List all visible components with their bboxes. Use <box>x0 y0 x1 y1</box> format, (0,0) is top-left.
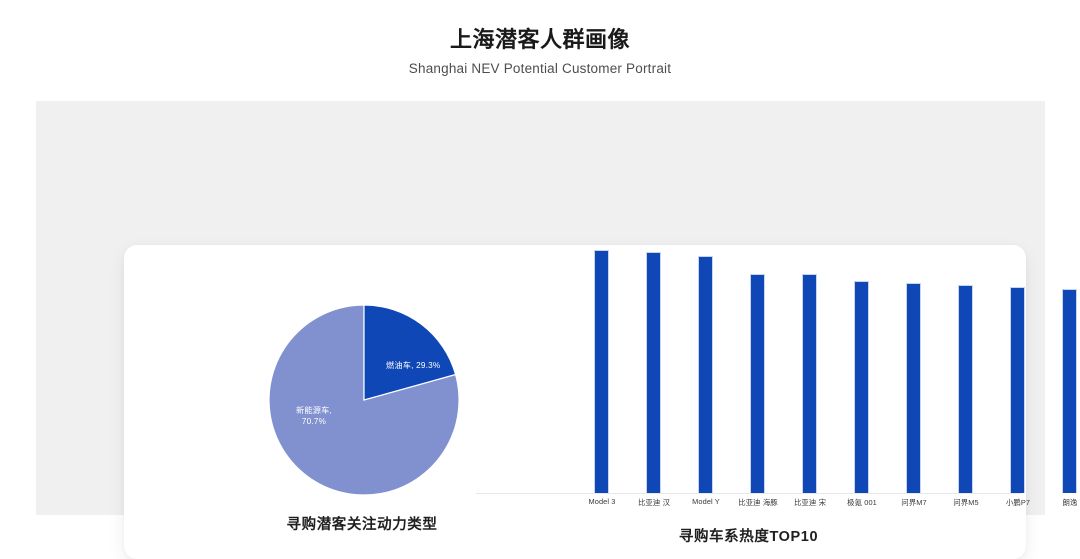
page-subtitle: Shanghai NEV Potential Customer Portrait <box>0 54 1080 76</box>
bar-column <box>940 247 992 493</box>
bar-column <box>992 247 1044 493</box>
bar-column <box>576 247 628 493</box>
bar-tick-label: Model 3 <box>576 497 628 506</box>
bar-tick-label: 问界M7 <box>888 497 940 508</box>
bar-column <box>680 247 732 493</box>
bar-column <box>836 247 888 493</box>
bar-chart-block: Model 3比亚迪 汉Model Y比亚迪 海豚比亚迪 宋极氪 001问界M7… <box>476 247 1021 557</box>
bar[interactable] <box>594 250 609 493</box>
page-header: 上海潜客人群画像 Shanghai NEV Potential Customer… <box>0 0 1080 76</box>
bar[interactable] <box>646 252 661 493</box>
bar-column <box>1044 247 1080 493</box>
bar-column <box>732 247 784 493</box>
charts-card: 燃油车, 29.3% 新能源车, 70.7% 寻购潜客关注动力类型 Model … <box>124 245 1026 559</box>
bar-chart-plot-area <box>476 247 1021 493</box>
bar-tick-label: Model Y <box>680 497 732 506</box>
bar-tick-label: 朗逸 <box>1044 497 1080 508</box>
bar-tick-label: 小鹏P7 <box>992 497 1044 508</box>
page-title: 上海潜客人群画像 <box>0 0 1080 54</box>
bar[interactable] <box>1010 287 1025 493</box>
bar[interactable] <box>958 285 973 493</box>
bar[interactable] <box>854 281 869 493</box>
bar-tick-label: 极氪 001 <box>836 497 888 508</box>
bar[interactable] <box>1062 289 1077 493</box>
bar-column <box>784 247 836 493</box>
bar-chart-title: 寻购车系热度TOP10 <box>476 525 1021 546</box>
dashboard-panel: 燃油车, 29.3% 新能源车, 70.7% 寻购潜客关注动力类型 Model … <box>36 101 1045 515</box>
bar[interactable] <box>802 274 817 493</box>
pie-label-nev: 新能源车, 70.7% <box>269 405 359 427</box>
bar[interactable] <box>698 256 713 493</box>
bar-column <box>888 247 940 493</box>
bar-chart-axis-line <box>476 493 1021 494</box>
bar-column <box>628 247 680 493</box>
bar-tick-label: 比亚迪 宋 <box>784 497 836 508</box>
bar-tick-label: 问界M5 <box>940 497 992 508</box>
bar[interactable] <box>750 274 765 493</box>
bar-tick-label: 比亚迪 汉 <box>628 497 680 508</box>
bar[interactable] <box>906 283 921 493</box>
bar-tick-label: 比亚迪 海豚 <box>732 497 784 508</box>
